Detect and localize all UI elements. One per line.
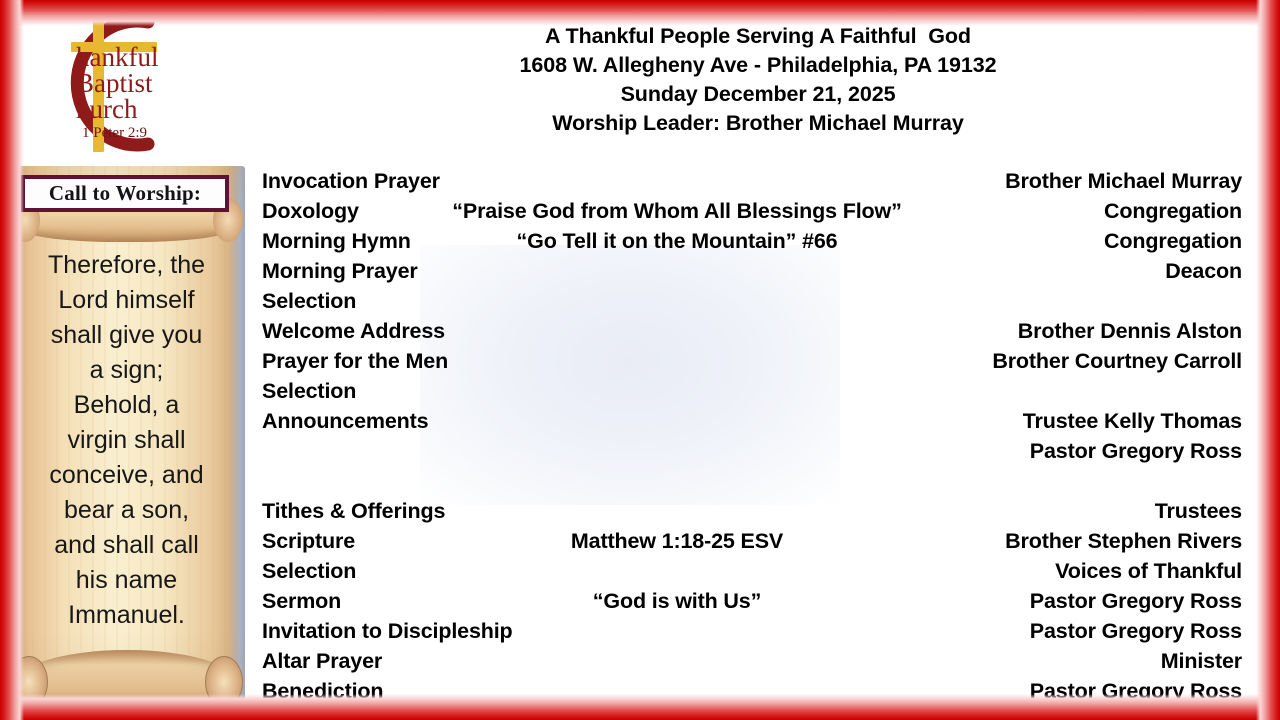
worship-service-slide: hankful Baptist hurch 1 Peter 2:9 A Than…	[0, 0, 1280, 720]
order-item-person: Brother Dennis Alston	[1018, 316, 1242, 346]
order-row: Selection Voices of Thankful	[262, 556, 1242, 586]
order-row: Invocation Prayer Brother Michael Murray	[262, 166, 1242, 196]
order-item-person: Pastor Gregory Ross	[1030, 616, 1242, 646]
order-item-person: Brother Stephen Rivers	[1005, 526, 1242, 556]
order-item-person: Minister	[1161, 646, 1242, 676]
order-item-person: Brother Michael Murray	[1005, 166, 1242, 196]
order-item-name: Invocation Prayer	[262, 166, 440, 196]
order-row: Altar Prayer Minister	[262, 646, 1242, 676]
order-row: Prayer for the Men Brother Courtney Carr…	[262, 346, 1242, 376]
order-item-detail: Matthew 1:18-25 ESV	[262, 526, 1092, 556]
order-footer-row: Be Encouraged – Walk in Excellence – Spe…	[262, 706, 1242, 720]
order-row: Scripture Matthew 1:18-25 ESV Brother St…	[262, 526, 1242, 556]
scroll-bottom-curl-icon	[12, 650, 241, 712]
header-date: Sunday December 21, 2025	[258, 80, 1258, 109]
slide-header: A Thankful People Serving A Faithful God…	[258, 22, 1258, 138]
order-item-person: Pastor Gregory Ross	[1030, 676, 1242, 706]
slide-border-right	[1256, 0, 1280, 720]
order-row: Welcome Address Brother Dennis Alston	[262, 316, 1242, 346]
order-item-person: Congregation	[1104, 196, 1242, 226]
order-row: Selection	[262, 286, 1242, 316]
order-row: Sermon “God is with Us” Pastor Gregory R…	[262, 586, 1242, 616]
order-of-service-list: Invocation Prayer Brother Michael Murray…	[262, 166, 1242, 720]
call-to-worship-label: Call to Worship:	[49, 181, 201, 206]
order-item-person: Brother Courtney Carroll	[992, 346, 1242, 376]
order-row: Selection	[262, 376, 1242, 406]
call-to-worship-panel: Call to Worship: Therefore, the Lord him…	[8, 166, 245, 718]
order-row: Invitation to Discipleship Pastor Gregor…	[262, 616, 1242, 646]
order-item-name: Invitation to Discipleship	[262, 616, 513, 646]
church-logo-graphic: hankful Baptist hurch 1 Peter 2:9	[18, 4, 218, 154]
call-to-worship-badge: Call to Worship:	[21, 175, 229, 212]
logo-text-church: hurch	[76, 94, 138, 124]
order-item-name: Announcements	[262, 406, 428, 436]
header-address: 1608 W. Allegheny Ave - Philadelphia, PA…	[258, 51, 1258, 80]
order-item-name: Altar Prayer	[262, 646, 382, 676]
call-to-worship-verse-text: Therefore, the Lord himself shall give y…	[18, 248, 235, 633]
order-row-spacer	[262, 466, 1242, 496]
church-logo: hankful Baptist hurch 1 Peter 2:9	[18, 4, 218, 154]
order-item-detail: “God is with Us”	[262, 586, 1092, 616]
order-item-person: Congregation	[1104, 226, 1242, 256]
order-item-name: Selection	[262, 556, 356, 586]
order-item-name: Tithes & Offerings	[262, 496, 445, 526]
order-item-person: Pastor Gregory Ross	[1030, 586, 1242, 616]
order-item-person: Voices of Thankful	[1055, 556, 1242, 586]
order-item-name: Selection	[262, 376, 356, 406]
order-row: Pastor Gregory Ross	[262, 436, 1242, 466]
order-item-person: Trustee Kelly Thomas	[1023, 406, 1242, 436]
order-footer-tagline: Be Encouraged – Walk in Excellence – Spe…	[262, 706, 1242, 720]
order-item-person: Deacon	[1165, 256, 1242, 286]
order-item-name: Benediction	[262, 676, 383, 706]
order-row: Tithes & Offerings Trustees	[262, 496, 1242, 526]
order-item-name: Welcome Address	[262, 316, 445, 346]
order-item-person: Trustees	[1155, 496, 1242, 526]
header-tagline: A Thankful People Serving A Faithful God	[258, 22, 1258, 51]
order-item-person: Pastor Gregory Ross	[1030, 436, 1242, 466]
order-item-name: Prayer for the Men	[262, 346, 448, 376]
logo-text-verse: 1 Peter 2:9	[82, 125, 147, 141]
order-row: Morning Prayer Deacon	[262, 256, 1242, 286]
order-item-name: Morning Prayer	[262, 256, 418, 286]
order-row: Morning Hymn “Go Tell it on the Mountain…	[262, 226, 1242, 256]
order-item-name: Selection	[262, 286, 356, 316]
order-row: Announcements Trustee Kelly Thomas	[262, 406, 1242, 436]
order-item-detail: “Praise God from Whom All Blessings Flow…	[262, 196, 1092, 226]
header-worship-leader: Worship Leader: Brother Michael Murray	[258, 109, 1258, 138]
order-row: Doxology “Praise God from Whom All Bless…	[262, 196, 1242, 226]
order-row: Benediction Pastor Gregory Ross	[262, 676, 1242, 706]
order-item-detail: “Go Tell it on the Mountain” #66	[262, 226, 1092, 256]
